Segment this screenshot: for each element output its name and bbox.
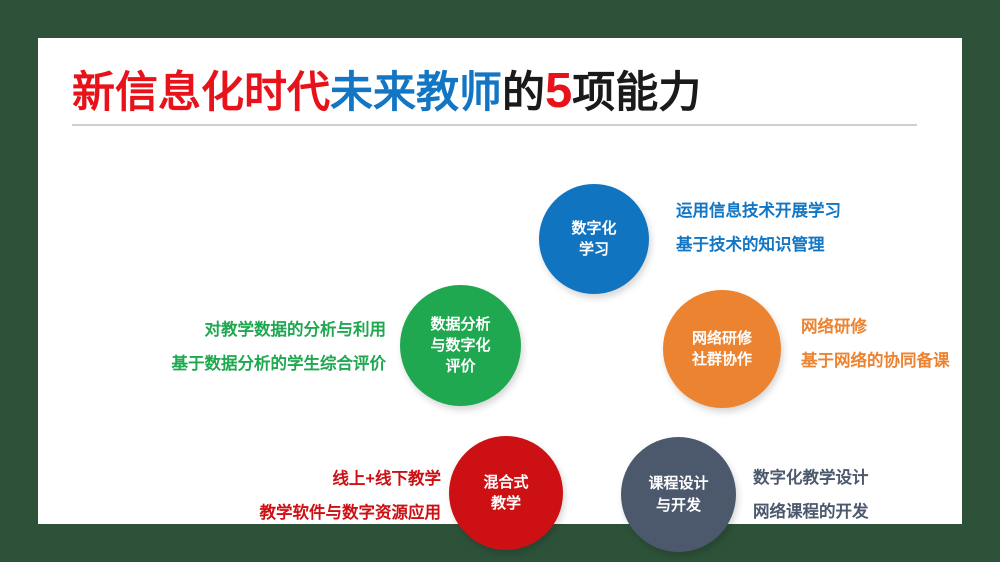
ability-circle-label-line1: 数字化 [571,218,616,239]
title-segment-red: 新信息化时代 [72,69,330,117]
ability-circle-blended-teaching[interactable]: 混合式 教学 [449,436,563,550]
ability-circle-label-line2: 与开发 [656,495,701,516]
ability-circle-online-training[interactable]: 网络研修 社群协作 [663,290,781,408]
ability-description-blended-teaching: 线上+线下教学 教学软件与数字资源应用 [38,462,441,530]
ability-description-line1: 线上+线下教学 [38,462,441,496]
ability-description-line2: 基于技术的知识管理 [676,228,841,262]
ability-description-online-training: 网络研修 基于网络的协同备课 [801,310,950,378]
title-segment-number: 5 [545,64,572,118]
ability-circle-label-line2: 学习 [579,239,609,260]
ability-description-line1: 运用信息技术开展学习 [676,194,841,228]
ability-circle-label-line1: 网络研修 [692,328,752,349]
ability-circle-label-line1: 混合式 [483,472,528,493]
title-segment-black-1: 的 [502,69,545,117]
ability-description-course-design: 数字化教学设计 网络课程的开发 [753,461,869,529]
ability-circle-digital-learning[interactable]: 数字化 学习 [539,184,649,294]
ability-circle-label-line2: 教学 [491,493,521,514]
title-segment-black-2: 项能力 [572,69,701,117]
ability-description-line1: 对教学数据的分析与利用 [38,313,386,347]
ability-circle-label-line3: 评价 [445,356,475,377]
ability-circle-data-analysis[interactable]: 数据分析 与数字化 评价 [400,285,521,406]
ability-description-line2: 基于数据分析的学生综合评价 [38,347,386,381]
ability-circle-label-line2: 与数字化 [430,335,490,356]
slide-content-card: 新信息化时代未来教师的5项能力 数字化 学习 运用信息技术开展学习 基于技术的知… [38,38,962,524]
page-title: 新信息化时代未来教师的5项能力 [72,60,932,126]
ability-description-line1: 数字化教学设计 [753,461,869,495]
slide-root: 新信息化时代未来教师的5项能力 数字化 学习 运用信息技术开展学习 基于技术的知… [0,0,1000,562]
ability-circle-label-line1: 数据分析 [430,314,490,335]
ability-description-data-analysis: 对教学数据的分析与利用 基于数据分析的学生综合评价 [38,313,386,381]
ability-circle-label-line1: 课程设计 [648,473,708,494]
ability-description-line2: 教学软件与数字资源应用 [38,496,441,530]
ability-description-line2: 基于网络的协同备课 [801,344,950,378]
ability-circle-course-design[interactable]: 课程设计 与开发 [621,437,736,552]
page-title-text: 新信息化时代未来教师的5项能力 [72,60,932,124]
ability-circle-label-line2: 社群协作 [692,349,752,370]
title-segment-blue: 未来教师 [330,69,502,117]
ability-description-line1: 网络研修 [801,310,950,344]
ability-description-line2: 网络课程的开发 [753,495,869,529]
ability-description-digital-learning: 运用信息技术开展学习 基于技术的知识管理 [676,194,841,262]
title-divider [72,124,917,126]
